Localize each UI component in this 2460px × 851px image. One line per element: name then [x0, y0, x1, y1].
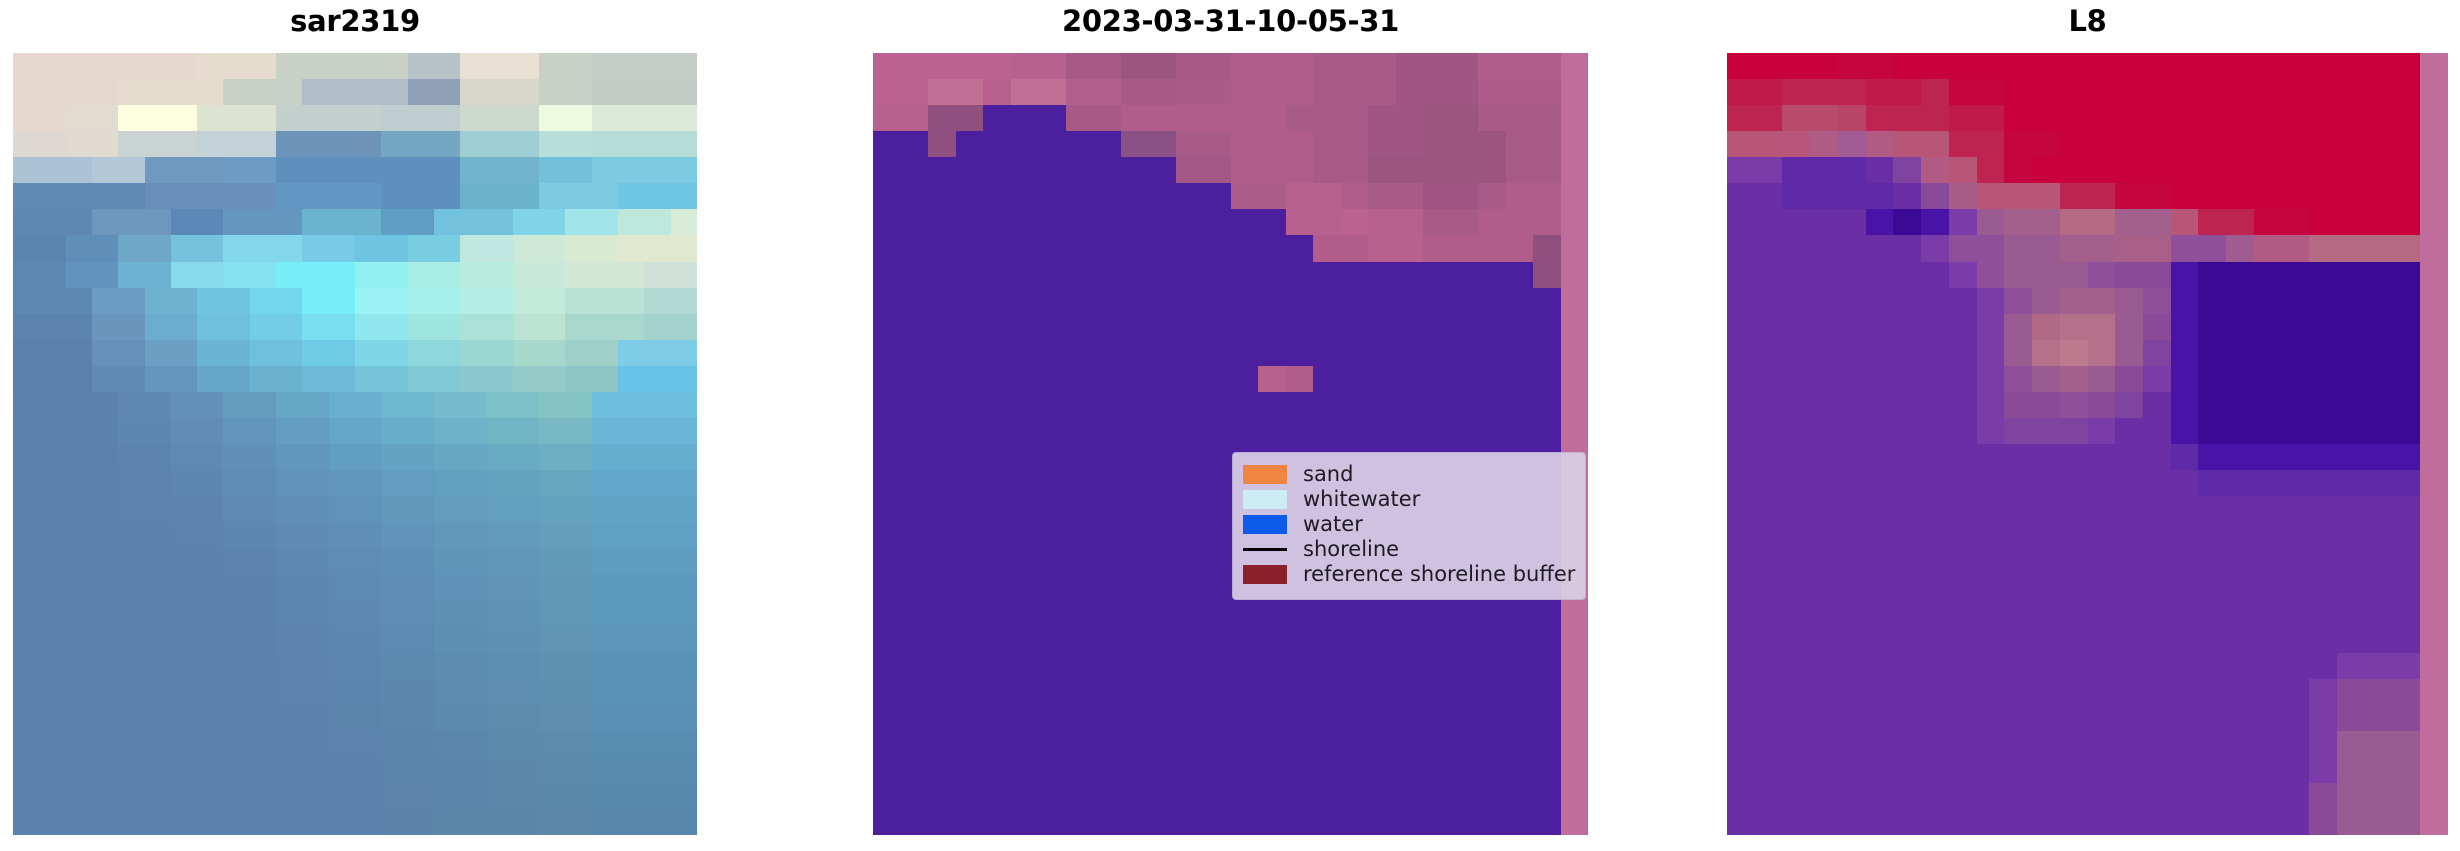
legend-item[interactable]: water	[1243, 512, 1573, 537]
legend-item[interactable]: sand	[1243, 462, 1573, 487]
panel-title-classified: 2023-03-31-10-05-31	[873, 4, 1588, 38]
legend-item-label: whitewater	[1289, 489, 1420, 510]
legend-swatch	[1243, 465, 1287, 484]
legend-item-label: water	[1289, 514, 1363, 535]
raster-sar2319	[13, 53, 697, 835]
panel-l8: L8	[1727, 0, 2448, 851]
panel-title-sar2319: sar2319	[13, 4, 697, 38]
legend-item-label: reference shoreline buffer	[1289, 564, 1575, 585]
legend-marker-icon	[1243, 487, 1289, 512]
raster-l8	[1727, 53, 2448, 835]
legend-swatch	[1243, 565, 1287, 584]
legend-item-label: shoreline	[1289, 539, 1399, 560]
legend-swatch	[1243, 490, 1287, 509]
legend-item[interactable]: whitewater	[1243, 487, 1573, 512]
legend-item[interactable]: shoreline	[1243, 537, 1573, 562]
legend[interactable]: sandwhitewaterwatershorelinereference sh…	[1232, 452, 1586, 600]
legend-item[interactable]: reference shoreline buffer	[1243, 562, 1573, 587]
legend-swatch	[1243, 515, 1287, 534]
legend-item-label: sand	[1289, 464, 1353, 485]
panel-sar2319: sar2319	[13, 0, 697, 851]
panel-classified: 2023-03-31-10-05-31	[873, 0, 1588, 851]
legend-marker-icon	[1243, 462, 1289, 487]
legend-marker-icon	[1243, 562, 1289, 587]
figure-canvas: sar2319 2023-03-31-10-05-31 L8 sandwhite…	[0, 0, 2460, 851]
legend-line-marker	[1243, 548, 1287, 551]
legend-marker-icon	[1243, 537, 1289, 562]
panel-title-l8: L8	[1727, 4, 2448, 38]
raster-classified	[873, 53, 1588, 835]
legend-marker-icon	[1243, 512, 1289, 537]
